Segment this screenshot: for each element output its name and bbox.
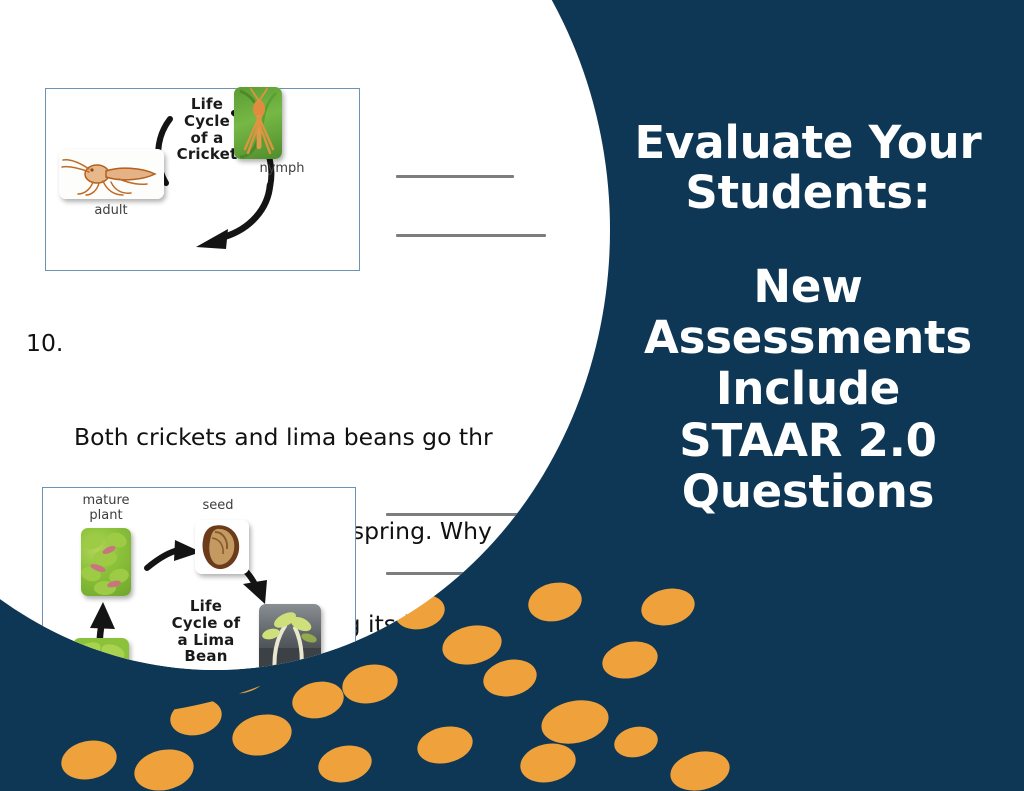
headline-line-2: Students:: [596, 168, 1020, 218]
seed-image: [195, 520, 249, 574]
headline-line-7: Questions: [596, 466, 1020, 517]
adult-label: adult: [66, 203, 156, 218]
mature-plant-label-line-1: mature: [61, 494, 151, 509]
cricket-lifecycle-panel: Life Cycle of a Cricket: [45, 88, 360, 271]
adult-cricket-image: [59, 149, 164, 199]
headline-spacer: [596, 219, 1020, 261]
poster-canvas: Life Cycle of a Cricket: [0, 0, 1024, 791]
headline-line-5: Include: [596, 363, 1020, 414]
young-plant-image: [73, 638, 129, 670]
seed-label: seed: [183, 498, 253, 513]
seedling-photo: [259, 604, 321, 670]
nymph-photo: [234, 87, 282, 159]
mature-plant-photo: [81, 528, 131, 596]
worksheet-circle-window: Life Cycle of a Cricket: [0, 0, 610, 670]
question-line-1: Both crickets and lima beans go thr: [74, 422, 610, 453]
headline-line-4: Assessments: [596, 312, 1020, 363]
answer-rule-2: [396, 234, 546, 237]
nymph-label: nymph: [242, 161, 322, 176]
seedling-image: [259, 604, 321, 670]
answer-rule-5: [386, 632, 426, 635]
headline-line-6: STAAR 2.0: [596, 415, 1020, 466]
mature-plant-label-line-2: plant: [61, 509, 151, 524]
seed-photo: [195, 520, 249, 574]
answer-rule-1: [396, 175, 514, 178]
young-plant-photo: [73, 638, 129, 670]
answer-rule-4: [386, 572, 514, 575]
headline-line-1: Evaluate Your: [596, 118, 1020, 168]
nymph-photo-image: [234, 87, 282, 159]
answer-rule-3: [386, 513, 554, 516]
adult-cricket-photo: [59, 149, 164, 199]
worksheet-page: Life Cycle of a Cricket: [0, 0, 610, 670]
lima-bean-lifecycle-panel: Life Cycle of a Lima Bean mature: [42, 487, 356, 670]
mature-plant-image: [81, 528, 131, 596]
headline-line-3: New: [596, 261, 1020, 312]
mature-plant-label: mature plant: [61, 494, 151, 524]
question-number: 10.: [26, 328, 63, 359]
poster-headline: Evaluate Your Students: New Assessments …: [596, 118, 1020, 517]
